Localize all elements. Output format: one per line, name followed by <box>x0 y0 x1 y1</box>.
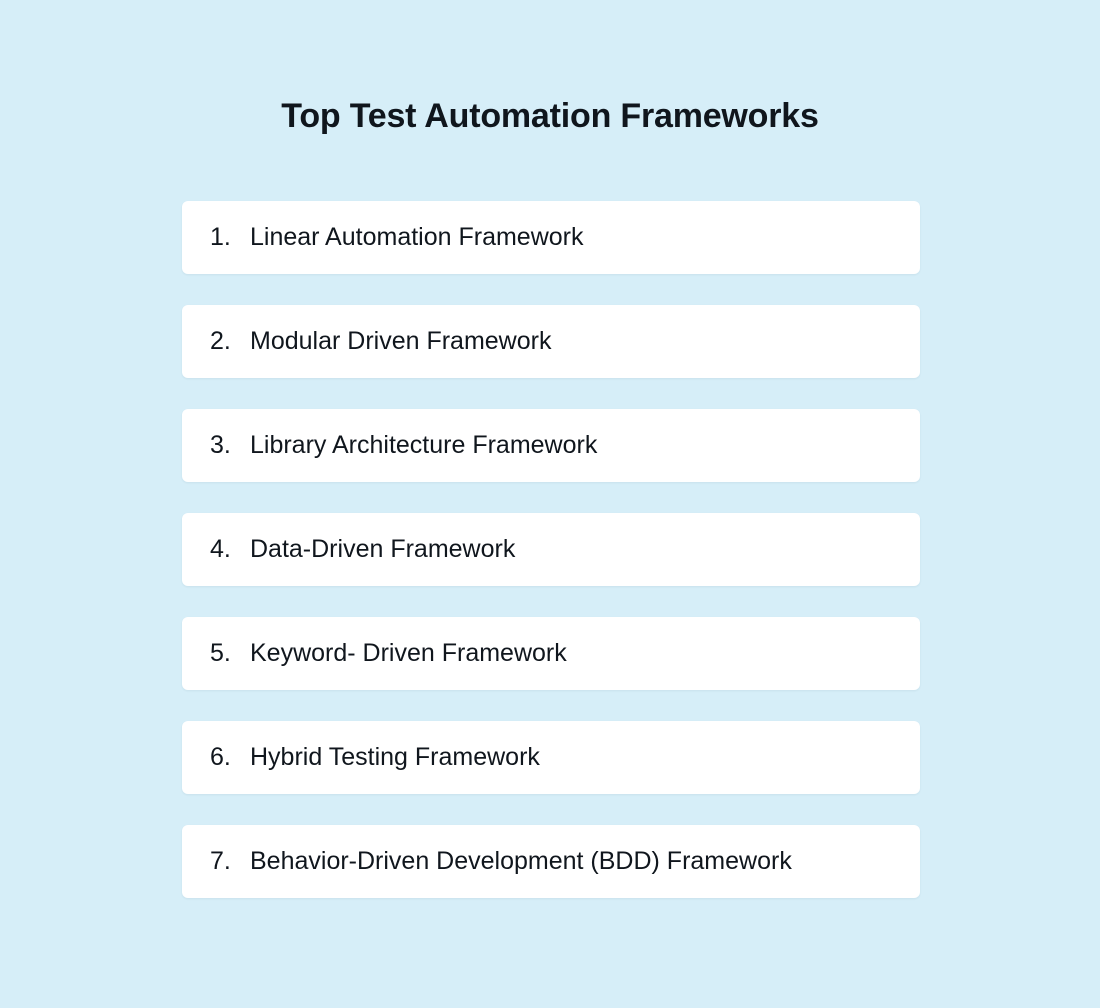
list-item-number: 5. <box>210 641 250 666</box>
list-item-number: 6. <box>210 745 250 770</box>
poster-canvas: Top Test Automation Frameworks 1. Linear… <box>0 0 1100 1008</box>
list-item[interactable]: 5. Keyword- Driven Framework <box>182 617 920 690</box>
list-item-label: Modular Driven Framework <box>250 327 896 356</box>
list-item-label: Linear Automation Framework <box>250 223 896 252</box>
list-item-number: 3. <box>210 433 250 458</box>
list-item-number: 2. <box>210 329 250 354</box>
list-item[interactable]: 3. Library Architecture Framework <box>182 409 920 482</box>
list-item[interactable]: 6. Hybrid Testing Framework <box>182 721 920 794</box>
page-title: Top Test Automation Frameworks <box>0 96 1100 137</box>
framework-list: 1. Linear Automation Framework 2. Modula… <box>182 201 920 898</box>
list-item[interactable]: 7. Behavior-Driven Development (BDD) Fra… <box>182 825 920 898</box>
list-item-label: Behavior-Driven Development (BDD) Framew… <box>250 847 896 876</box>
list-item-label: Hybrid Testing Framework <box>250 743 896 772</box>
list-item[interactable]: 1. Linear Automation Framework <box>182 201 920 274</box>
list-item[interactable]: 4. Data-Driven Framework <box>182 513 920 586</box>
list-item-label: Library Architecture Framework <box>250 431 896 460</box>
list-item[interactable]: 2. Modular Driven Framework <box>182 305 920 378</box>
list-item-number: 7. <box>210 849 250 874</box>
list-item-number: 1. <box>210 225 250 250</box>
list-item-number: 4. <box>210 537 250 562</box>
list-item-label: Keyword- Driven Framework <box>250 639 896 668</box>
list-item-label: Data-Driven Framework <box>250 535 896 564</box>
